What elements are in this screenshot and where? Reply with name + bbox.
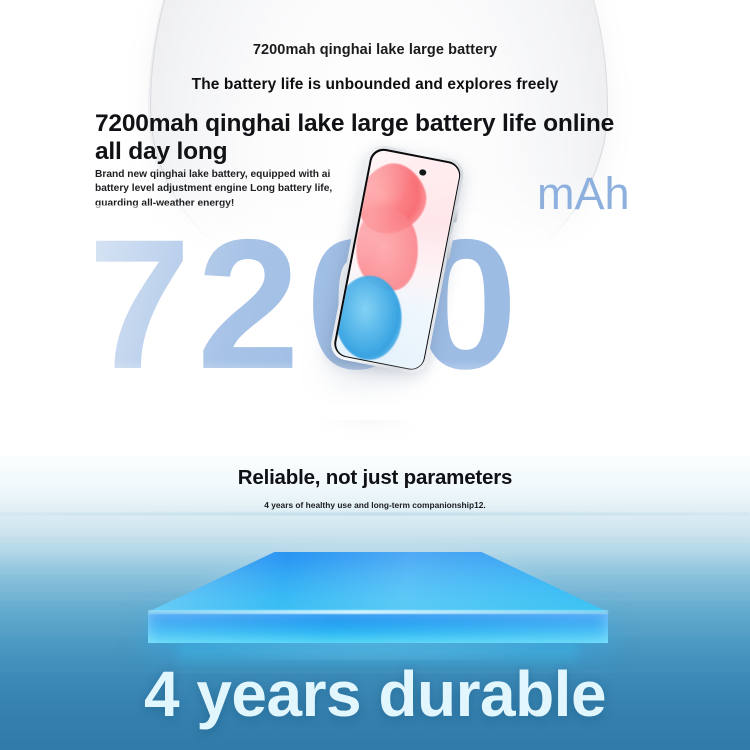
glass-slab-graphic (148, 552, 608, 644)
durability-headline: 4 years durable (0, 662, 750, 726)
unit-label: mAh (537, 168, 630, 220)
horizon-line (0, 513, 750, 515)
page-title: 7200mah qinghai lake large battery life … (95, 110, 625, 167)
section-subtitle: 4 years of healthy use and long-term com… (0, 500, 750, 510)
slab-edge-highlight (148, 610, 608, 614)
section-title: Reliable, not just parameters (0, 466, 750, 490)
product-feature-page: 7200mah qinghai lake large battery The b… (0, 0, 750, 750)
kicker-line-2: The battery life is unbounded and explor… (0, 76, 750, 94)
kicker-line-1: 7200mah qinghai lake large battery (0, 42, 750, 58)
battery-hero-section: 7200mah qinghai lake large battery The b… (0, 0, 750, 456)
slab-top-sheen (148, 552, 608, 612)
slab-front-sheen (148, 613, 608, 643)
spec-row: 10% ultra-high silicon content 880wh/l u… (0, 424, 750, 452)
water-ripple (0, 534, 750, 536)
